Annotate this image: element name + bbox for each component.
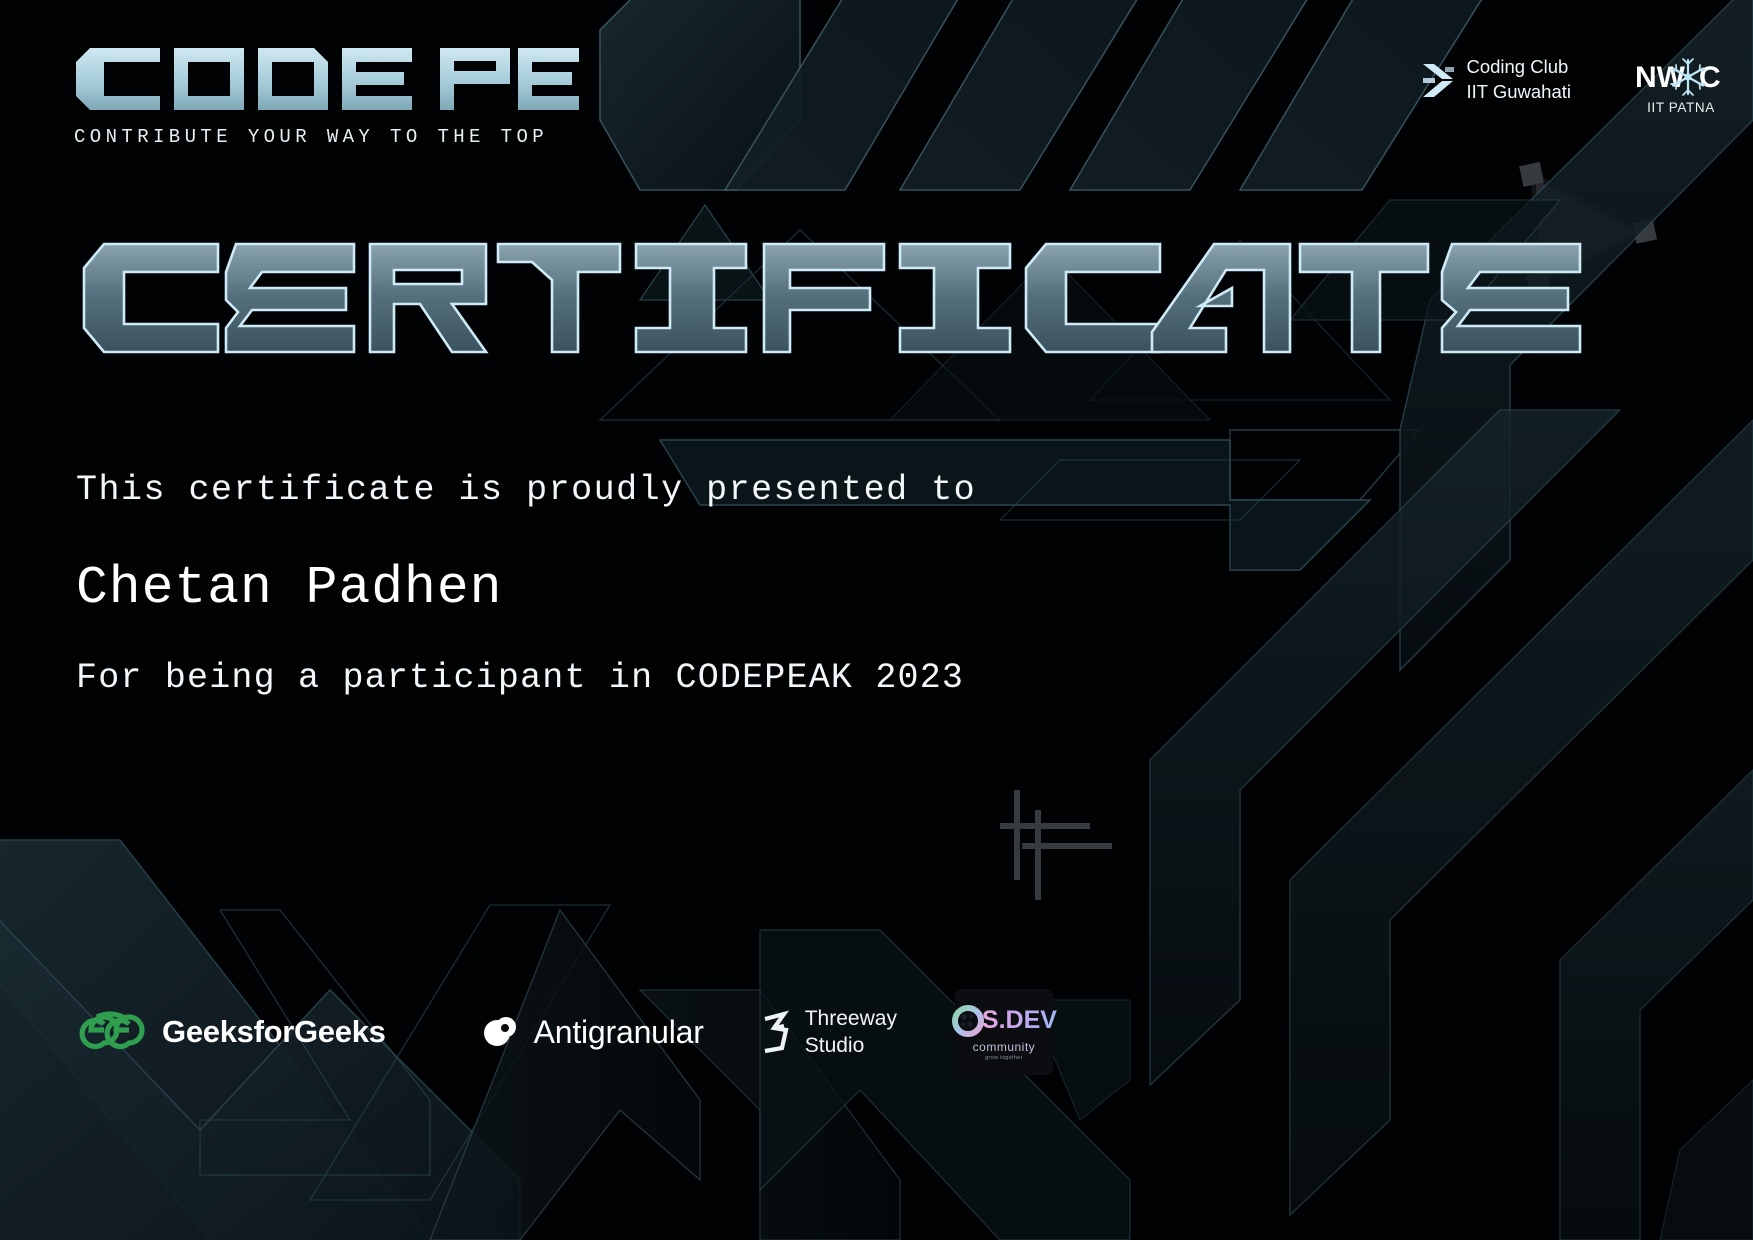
geeksforgeeks-icon xyxy=(74,1009,146,1055)
osdev-community-label: community xyxy=(973,1040,1036,1054)
certificate-header: CONTRIBUTE YOUR WAY TO THE TOP Coding Cl… xyxy=(0,0,1753,175)
geeksforgeeks-label: GeeksforGeeks xyxy=(162,1014,386,1050)
threeway-studio-icon xyxy=(760,1010,794,1054)
threeway-line1: Threeway xyxy=(805,1005,897,1032)
sponsor-antigranular: Antigranular xyxy=(482,1014,704,1051)
brand-tagline: CONTRIBUTE YOUR WAY TO THE TOP xyxy=(74,126,579,148)
antigranular-label: Antigranular xyxy=(534,1014,704,1051)
sponsor-osdev: S.DEV community grow together xyxy=(955,989,1053,1075)
nwoc-snowflake-icon: NW C xyxy=(1633,55,1729,99)
osdev-grow-label: grow together xyxy=(985,1055,1023,1061)
recipient-name: Chetan Padhen xyxy=(76,558,976,618)
codepeak-wordmark-icon xyxy=(74,48,579,110)
partner-logos: Coding Club IIT Guwahati NW C xyxy=(1421,55,1729,115)
osdev-card: S.DEV community grow together xyxy=(955,989,1053,1075)
nwoc-sublabel: IIT PATNA xyxy=(1647,100,1715,115)
presented-line: This certificate is proudly presented to xyxy=(76,470,976,510)
certificate-canvas: CONTRIBUTE YOUR WAY TO THE TOP Coding Cl… xyxy=(0,0,1753,1240)
antigranular-icon xyxy=(482,1014,518,1050)
svg-text:NW: NW xyxy=(1635,61,1686,94)
coding-club-line1: Coding Club xyxy=(1466,55,1571,80)
certificate-body: This certificate is proudly presented to… xyxy=(76,470,976,698)
osdev-icon xyxy=(951,1004,985,1038)
threeway-line2: Studio xyxy=(805,1032,897,1059)
certificate-title-wrap xyxy=(0,232,1753,382)
threeway-studio-label: Threeway Studio xyxy=(805,1005,897,1060)
certificate-title xyxy=(0,232,1753,382)
osdev-wordmark: S.DEV xyxy=(951,1004,1057,1038)
coding-club-label: Coding Club IIT Guwahati xyxy=(1466,55,1571,104)
sponsor-geeksforgeeks: GeeksforGeeks xyxy=(74,1009,386,1055)
coding-club-line2: IIT Guwahati xyxy=(1466,80,1571,105)
svg-text:C: C xyxy=(1699,61,1721,94)
reason-line: For being a participant in CODEPEAK 2023 xyxy=(76,658,976,698)
brand-block: CONTRIBUTE YOUR WAY TO THE TOP xyxy=(74,48,579,148)
osdev-label: S.DEV xyxy=(982,1008,1057,1033)
partner-coding-club: Coding Club IIT Guwahati xyxy=(1421,55,1571,104)
sponsor-row: GeeksforGeeks Antigranular Threeway Stud… xyxy=(74,989,1053,1075)
sponsor-threeway-studio: Threeway Studio xyxy=(760,1005,897,1060)
coding-club-x-icon xyxy=(1421,61,1455,99)
partner-nwoc: NW C xyxy=(1633,55,1729,115)
